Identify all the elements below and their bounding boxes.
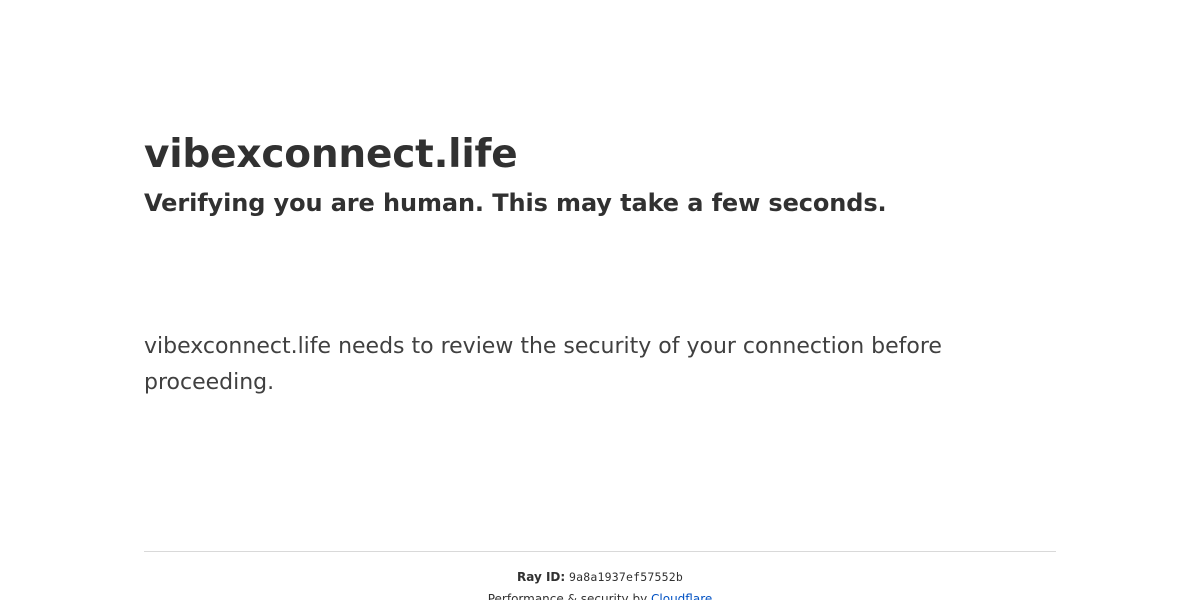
security-review-description: vibexconnect.life needs to review the se… bbox=[144, 325, 944, 401]
page-title: vibexconnect.life bbox=[144, 0, 1056, 179]
cloudflare-link[interactable]: Cloudflare bbox=[651, 592, 712, 600]
verification-status-text: Verifying you are human. This may take a… bbox=[144, 179, 1056, 219]
ray-id-row: Ray ID: 9a8a1937ef57552b bbox=[144, 552, 1056, 584]
attribution-prefix: Performance & security by bbox=[488, 592, 651, 600]
turnstile-widget-container[interactable] bbox=[144, 237, 444, 325]
challenge-content: vibexconnect.life Verifying you are huma… bbox=[144, 0, 1056, 401]
attribution-row: Performance & security by Cloudflare bbox=[144, 584, 1056, 600]
page-footer: Ray ID: 9a8a1937ef57552b Performance & s… bbox=[144, 552, 1056, 600]
cloudflare-interstitial-page: vibexconnect.life Verifying you are huma… bbox=[0, 0, 1200, 600]
ray-id-label: Ray ID: bbox=[517, 570, 565, 584]
ray-id-value: 9a8a1937ef57552b bbox=[569, 570, 683, 584]
